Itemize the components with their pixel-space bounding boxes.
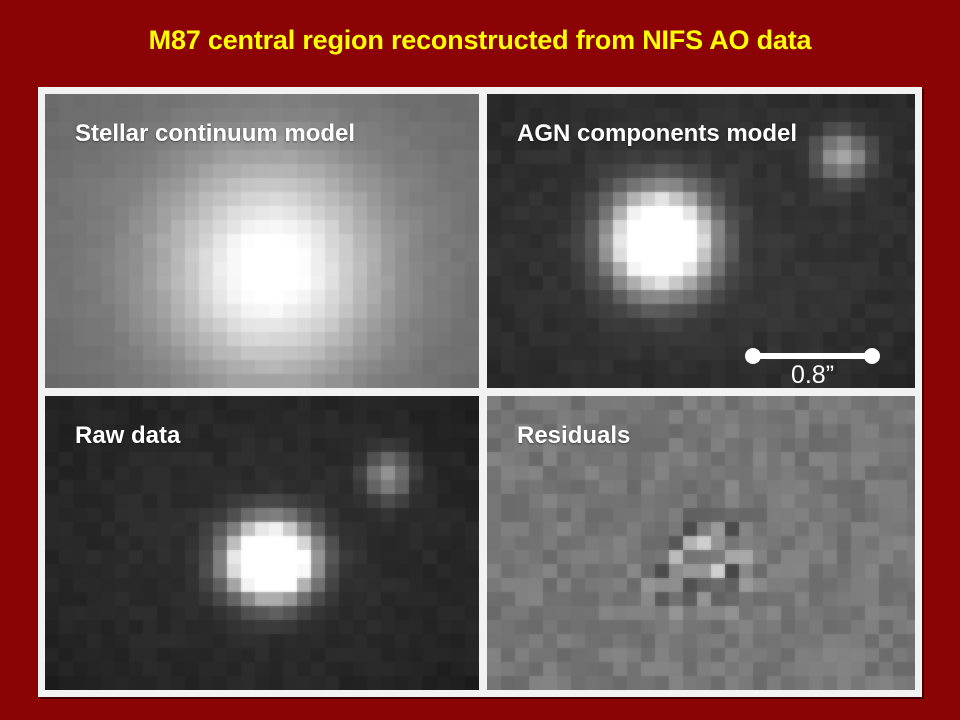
panel-raw-data[interactable]: Raw data	[45, 396, 479, 690]
scale-bar-line	[753, 353, 872, 359]
scale-bar-label: 0.8”	[745, 361, 880, 388]
panel-residuals[interactable]: Residuals	[487, 396, 915, 690]
panel-label-agn-components-model: AGN components model	[517, 120, 797, 148]
scale-bar: 0.8”	[745, 342, 890, 388]
panel-stellar-continuum-model[interactable]: Stellar continuum model	[45, 94, 479, 388]
panel-label-stellar-continuum-model: Stellar continuum model	[75, 120, 355, 148]
panel-label-residuals: Residuals	[517, 422, 630, 450]
panel-label-raw-data: Raw data	[75, 422, 180, 450]
figure-panel-grid: Stellar continuum model AGN components m…	[38, 87, 922, 697]
page-title: M87 central region reconstructed from NI…	[0, 25, 960, 56]
slide-canvas: M87 central region reconstructed from NI…	[0, 0, 960, 720]
panel-agn-components-model[interactable]: AGN components model 0.8”	[487, 94, 915, 388]
